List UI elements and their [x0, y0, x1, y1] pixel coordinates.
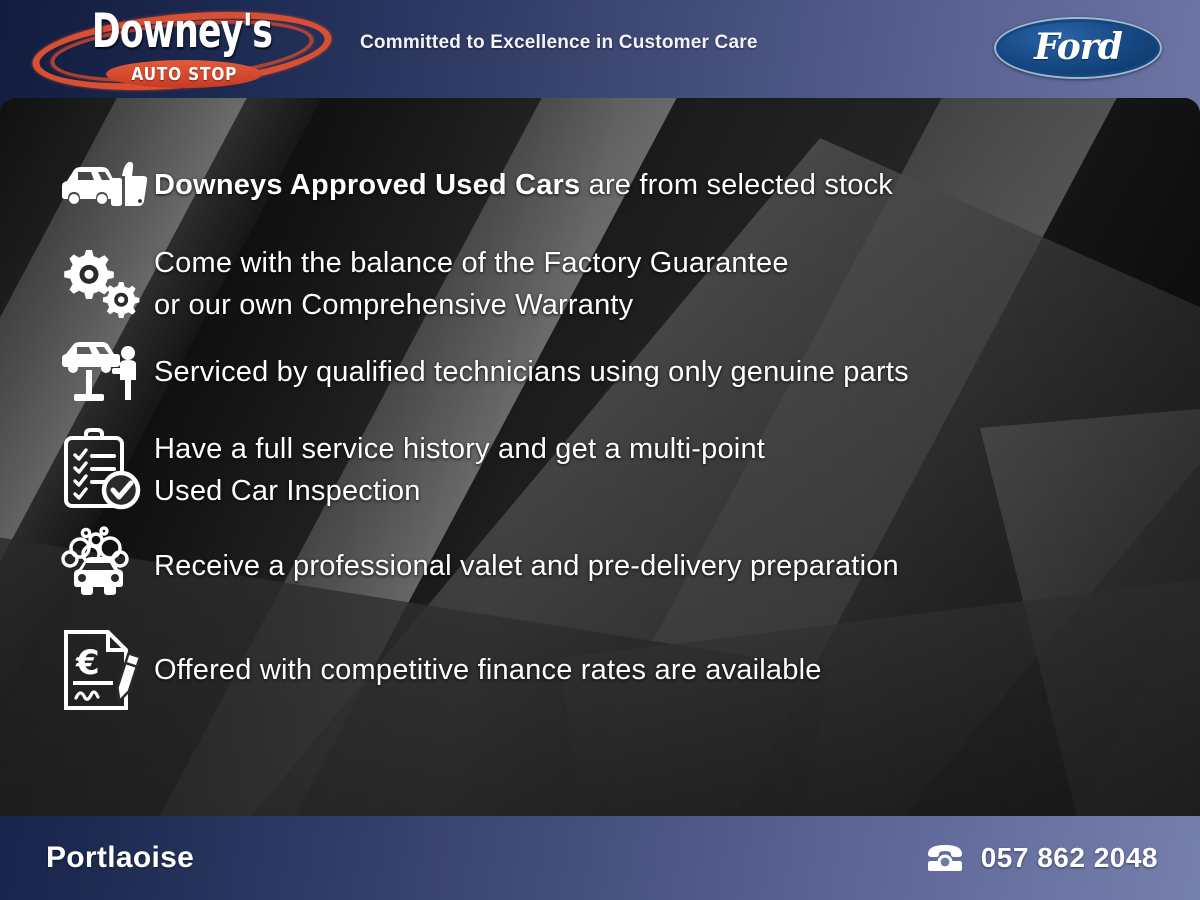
page-footer: Portlaoise 057 862 2048 [0, 816, 1200, 900]
car-thumbs-up-icon [58, 156, 154, 214]
features-panel: Downeys Approved Used Cars are from sele… [0, 98, 1200, 816]
feature-item-valet-preparation: Receive a professional valet and pre-del… [58, 526, 1200, 606]
promo-page: Downey's AUTO STOP Committed to Excellen… [0, 0, 1200, 900]
feature-item-approved-used-cars: Downeys Approved Used Cars are from sele… [58, 156, 1200, 214]
feature-item-finance-rates: € Offered with competitive finance rates… [58, 628, 1200, 712]
feature-text: Come with the balance of the Factory Gua… [154, 242, 789, 326]
page-header: Downey's AUTO STOP Committed to Excellen… [0, 0, 1200, 98]
car-wash-icon [58, 526, 154, 606]
ford-logo: Ford [994, 17, 1162, 79]
feature-text-bold: Downeys Approved Used Cars [154, 169, 580, 201]
logo-sub-name: AUTO STOP [131, 64, 237, 85]
feature-item-service-history: Have a full service history and get a mu… [58, 428, 1200, 512]
feature-text-line1: Have a full service history and get a mu… [154, 428, 765, 470]
logo-brand-name: Downey's [54, 6, 310, 58]
logo-sub-pill: AUTO STOP [106, 60, 262, 88]
feature-text-line1: Come with the balance of the Factory Gua… [154, 242, 789, 284]
feature-text-line2: or our own Comprehensive Warranty [154, 284, 789, 326]
feature-text: Have a full service history and get a mu… [154, 428, 765, 512]
feature-text: Downeys Approved Used Cars are from sele… [154, 164, 893, 206]
clipboard-check-icon [58, 428, 154, 512]
gears-icon [58, 248, 154, 320]
downeys-logo: Downey's AUTO STOP [26, 4, 338, 96]
feature-item-qualified-technicians: Serviced by qualified technicians using … [58, 340, 1200, 404]
phone-number: 057 862 2048 [981, 842, 1158, 874]
feature-text-rest: are from selected stock [580, 169, 893, 201]
feature-text: Receive a professional valet and pre-del… [154, 545, 899, 587]
ford-wordmark: Ford [1034, 26, 1122, 68]
phone-contact[interactable]: 057 862 2048 [925, 842, 1158, 874]
feature-text: Serviced by qualified technicians using … [154, 351, 909, 393]
ford-oval-shape: Ford [994, 17, 1162, 79]
telephone-icon [925, 843, 965, 873]
car-lift-technician-icon [58, 340, 154, 404]
branch-location: Portlaoise [46, 841, 194, 875]
header-tagline: Committed to Excellence in Customer Care [360, 32, 758, 54]
feature-item-factory-guarantee: Come with the balance of the Factory Gua… [58, 242, 1200, 326]
feature-text: Offered with competitive finance rates a… [154, 649, 822, 691]
feature-text-line2: Used Car Inspection [154, 470, 765, 512]
feature-list: Downeys Approved Used Cars are from sele… [0, 98, 1200, 816]
euro-document-pen-icon: € [58, 628, 154, 712]
svg-text:€: € [75, 643, 100, 683]
